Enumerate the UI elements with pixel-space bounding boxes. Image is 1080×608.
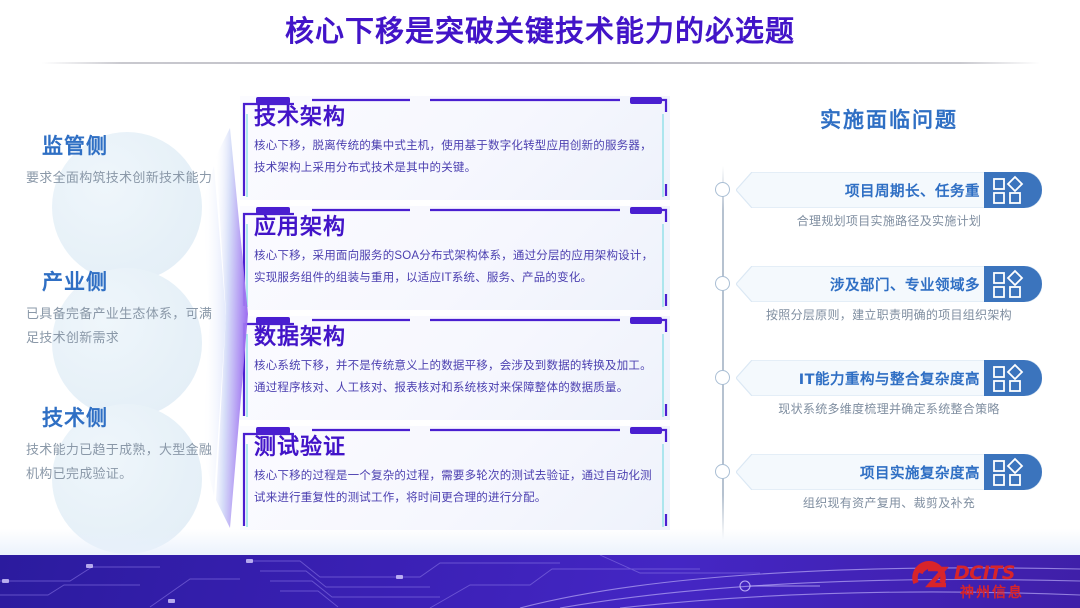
issue-pill[interactable]: IT能力重构与整合复杂度高: [736, 360, 1042, 396]
card-test-verification[interactable]: 测试验证 核心下移的过程是一个复杂的过程，需要多轮次的测试去验证，通过自动化测试…: [240, 426, 670, 530]
footer-band: DCITS 神州信息: [0, 555, 1080, 608]
left-block-heading: 技术侧: [42, 402, 210, 432]
card-title: 测试验证: [254, 434, 654, 462]
left-block-industry: 产业侧 已具备完备产业生态体系，可满足技术创新需求: [0, 266, 210, 402]
card-description: 核心系统下移，并不是传统意义上的数据平移，会涉及到数据的转换及加工。通过程序核对…: [254, 355, 654, 400]
footer-glow: [0, 529, 1080, 555]
company-logo: DCITS 神州信息: [908, 561, 1058, 603]
timeline-item-it-capability[interactable]: IT能力重构与整合复杂度高 现状系统多维度梳理并确定系统整合策略: [700, 344, 1060, 438]
center-column: 技术架构 核心下移，脱离传统的集中式主机，使用基于数字化转型应用创新的服务器，技…: [240, 96, 670, 536]
right-column: 实施面临问题 项目周期长、任务重: [700, 104, 1060, 544]
page-title: 核心下移是突破关键技术能力的必选题: [0, 14, 1080, 49]
grid-diamond-icon: [984, 454, 1042, 490]
issue-label: 涉及部门、专业领域多: [764, 266, 980, 302]
issue-subtext: 组织现有资产复用、裁剪及补充: [736, 494, 1042, 511]
left-block-heading: 产业侧: [42, 266, 210, 296]
left-column: 监管侧 要求全面构筑技术创新技术能力 产业侧 已具备完备产业生态体系，可满足技术…: [0, 130, 210, 540]
card-title: 技术架构: [254, 104, 654, 132]
issue-subtext: 现状系统多维度梳理并确定系统整合策略: [736, 400, 1042, 417]
card-data-architecture[interactable]: 数据架构 核心系统下移，并不是传统意义上的数据平移，会涉及到数据的转换及加工。通…: [240, 316, 670, 420]
title-divider: [42, 62, 1040, 64]
timeline-item-project-cycle[interactable]: 项目周期长、任务重 合理规划项目实施路径及实施计划: [700, 156, 1060, 250]
logo-text-cn: 神州信息: [960, 582, 1024, 602]
issue-label: IT能力重构与整合复杂度高: [764, 360, 980, 396]
logo-text: DCITS: [954, 562, 1015, 584]
issue-pill[interactable]: 项目实施复杂度高: [736, 454, 1042, 490]
left-block-regulatory: 监管侧 要求全面构筑技术创新技术能力: [0, 130, 210, 266]
left-block-desc: 已具备完备产业生态体系，可满足技术创新需求: [26, 302, 221, 350]
timeline-item-departments[interactable]: 涉及部门、专业领域多 按照分层原则，建立职责明确的项目组织架构: [700, 250, 1060, 344]
card-description: 核心下移，采用面向服务的SOA分布式架构体系，通过分层的应用架构设计，实现服务组…: [254, 245, 654, 290]
timeline-dot-icon: [715, 464, 730, 479]
timeline-dot-icon: [715, 276, 730, 291]
left-block-desc: 技术能力已趋于成熟，大型金融机构已完成验证。: [26, 438, 221, 486]
grid-diamond-icon: [984, 172, 1042, 208]
card-tech-architecture[interactable]: 技术架构 核心下移，脱离传统的集中式主机，使用基于数字化转型应用创新的服务器，技…: [240, 96, 670, 200]
issue-pill[interactable]: 涉及部门、专业领域多: [736, 266, 1042, 302]
card-description: 核心下移，脱离传统的集中式主机，使用基于数字化转型应用创新的服务器，技术架构上采…: [254, 135, 654, 180]
left-block-technology: 技术侧 技术能力已趋于成熟，大型金融机构已完成验证。: [0, 402, 210, 538]
timeline-item-implementation[interactable]: 项目实施复杂度高 组织现有资产复用、裁剪及补充: [700, 438, 1060, 532]
grid-diamond-icon: [984, 266, 1042, 302]
timeline-dot-icon: [715, 370, 730, 385]
right-column-heading: 实施面临问题: [718, 104, 1060, 134]
card-description: 核心下移的过程是一个复杂的过程，需要多轮次的测试去验证，通过自动化测试来进行重复…: [254, 465, 654, 510]
left-block-desc: 要求全面构筑技术创新技术能力: [26, 166, 221, 190]
issue-pill[interactable]: 项目周期长、任务重: [736, 172, 1042, 208]
issue-subtext: 合理规划项目实施路径及实施计划: [736, 212, 1042, 229]
issue-label: 项目实施复杂度高: [764, 454, 980, 490]
slide-canvas: 核心下移是突破关键技术能力的必选题 监管侧 要求全面构筑技术创新技术能力 产业侧…: [0, 0, 1080, 608]
card-title: 应用架构: [254, 214, 654, 242]
left-block-heading: 监管侧: [42, 130, 210, 160]
card-application-architecture[interactable]: 应用架构 核心下移，采用面向服务的SOA分布式架构体系，通过分层的应用架构设计，…: [240, 206, 670, 310]
issue-label: 项目周期长、任务重: [764, 172, 980, 208]
title-area: 核心下移是突破关键技术能力的必选题: [0, 14, 1080, 49]
issue-subtext: 按照分层原则，建立职责明确的项目组织架构: [736, 306, 1042, 323]
grid-diamond-icon: [984, 360, 1042, 396]
card-title: 数据架构: [254, 324, 654, 352]
timeline-dot-icon: [715, 182, 730, 197]
